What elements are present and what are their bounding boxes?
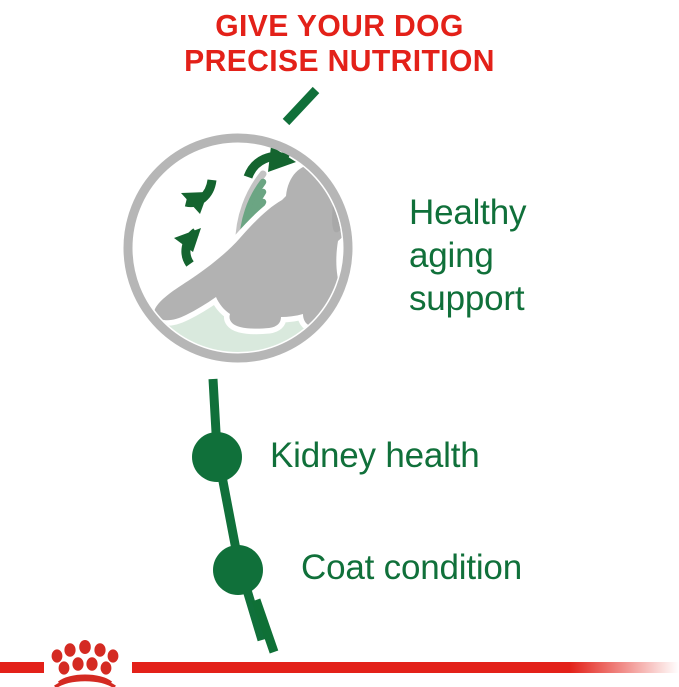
rotation-arrows-group: [174, 146, 296, 264]
green-accent-tick-icon: [286, 90, 316, 122]
footer-rule: [0, 662, 679, 673]
ground-shape: [148, 302, 352, 356]
page-title: GIVE YOUR DOG PRECISE NUTRITION: [10, 8, 669, 78]
healthy-aging-illustration: [128, 138, 355, 358]
benefit-label-healthy-aging-support: Healthy aging support: [409, 191, 526, 320]
badge-ring: [128, 138, 348, 358]
headline-line-1: GIVE YOUR DOG: [10, 8, 669, 43]
rotation-arrow-icon-3: [174, 228, 201, 264]
radiating-arcs-icon: [239, 174, 263, 314]
rotation-arrow-icon-1: [248, 146, 296, 177]
connector-dot-icon-coat: [213, 545, 263, 595]
connector-dot-icon-kidney: [192, 432, 242, 482]
crown-icon: [52, 640, 119, 687]
green-accent-tick-bottom-icon: [256, 600, 274, 652]
dog-silhouette-icon: [154, 164, 355, 329]
headline-line-2: PRECISE NUTRITION: [10, 43, 669, 78]
connector-line: [213, 379, 262, 640]
benefit-label-coat-condition: Coat condition: [301, 549, 522, 586]
infographic-canvas: GIVE YOUR DOG PRECISE NUTRITION: [0, 0, 679, 687]
rotation-arrow-icon-2: [181, 180, 212, 214]
benefit-label-kidney-health: Kidney health: [270, 437, 480, 474]
